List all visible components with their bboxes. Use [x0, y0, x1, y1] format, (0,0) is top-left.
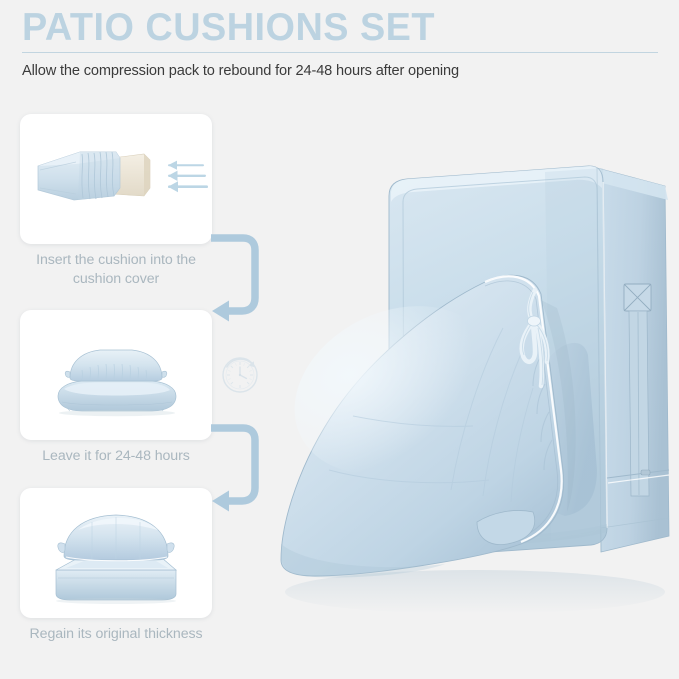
push-arrows — [168, 161, 208, 193]
step-rebound-caption: Regain its original thickness — [20, 625, 212, 644]
steps-column: Insert the cushion into the cushion cove… — [20, 114, 212, 644]
infographic-page: PATIO CUSHIONS SET Allow the compression… — [0, 0, 679, 679]
lofted-stacked-cushion-icon — [20, 488, 212, 618]
title-divider — [22, 52, 658, 53]
step-wait-caption: Leave it for 24-48 hours — [20, 447, 212, 466]
step-wait: Leave it for 24-48 hours — [20, 310, 212, 466]
step-rebound-card — [20, 488, 212, 618]
product-photo — [245, 140, 679, 640]
step-insert: Insert the cushion into the cushion cove… — [20, 114, 212, 288]
spacer-1 — [20, 288, 212, 310]
step-rebound: Regain its original thickness — [20, 488, 212, 644]
step-wait-card — [20, 310, 212, 440]
subtitle: Allow the compression pack to rebound fo… — [22, 61, 492, 82]
spacer-2 — [20, 466, 212, 488]
page-title: PATIO CUSHIONS SET — [22, 8, 639, 49]
step-insert-caption: Insert the cushion into the cushion cove… — [20, 251, 212, 288]
flat-stacked-cushion-icon — [20, 310, 212, 440]
step-insert-card — [20, 114, 212, 244]
cushion-into-cover-icon — [20, 114, 212, 244]
header: PATIO CUSHIONS SET Allow the compression… — [22, 8, 658, 82]
